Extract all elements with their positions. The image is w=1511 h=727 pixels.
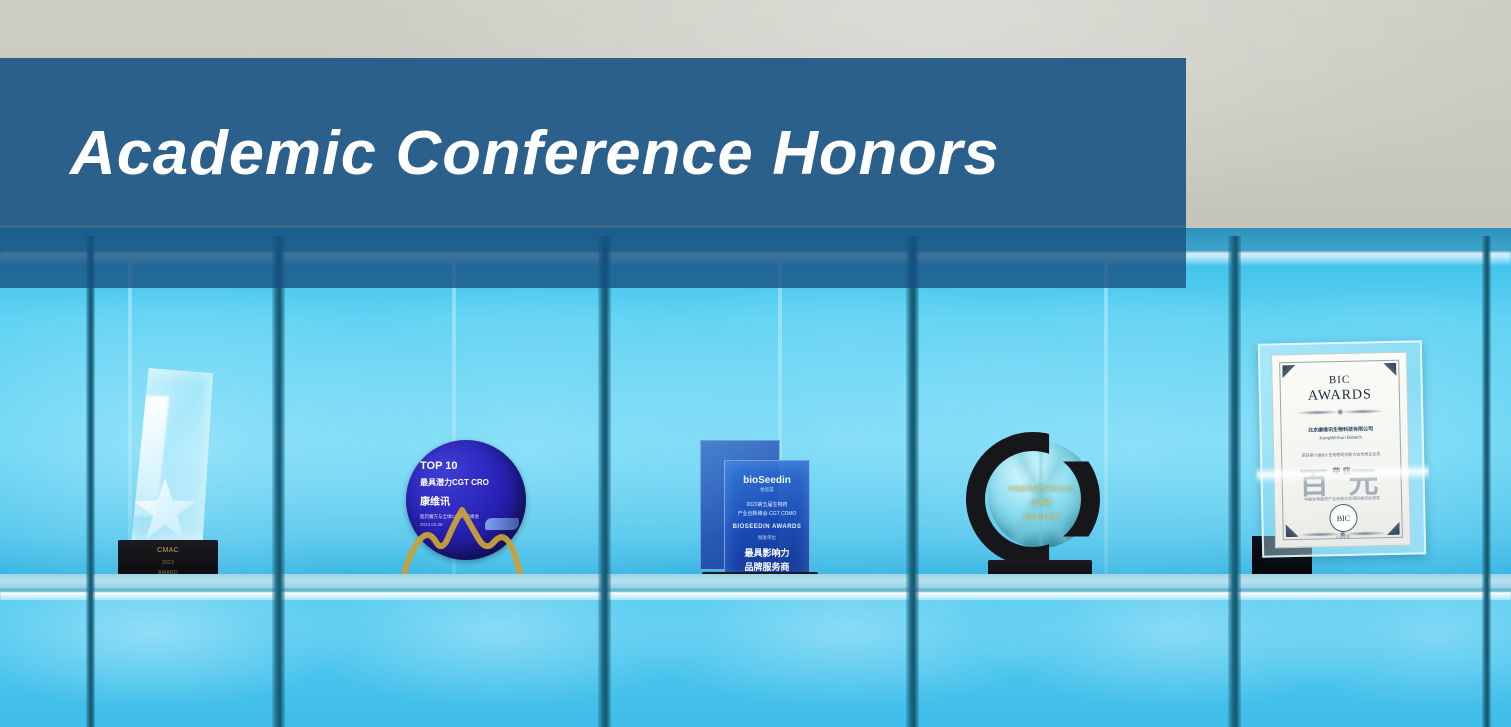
plaque-line1: 2023第五届生物药 — [725, 501, 809, 508]
plaque-line3: BIOSEEDIN AWARDS — [725, 524, 809, 530]
plaque-logo: bioSeedin — [725, 475, 809, 486]
plaque-line5: 最具影响力 — [725, 546, 809, 559]
cabinet-divider — [1482, 236, 1491, 727]
certificate-title-line2: AWARDS — [1273, 387, 1407, 406]
cabinet-divider — [598, 236, 611, 727]
cabinet-divider — [1228, 236, 1241, 727]
plaque-logo-sub: 柏思荟 — [725, 487, 809, 493]
lower-compartment-glow — [0, 600, 1511, 727]
plaque-front-panel: bioSeedin 柏思荟 2023第五届生物药 产业创新峰会·CGT CDMO… — [724, 460, 810, 580]
award-bioseedin-plaque: bioSeedin 柏思荟 2023第五届生物药 产业创新峰会·CGT CDMO… — [700, 440, 820, 588]
trophy-base-line1: CMAC — [118, 547, 218, 554]
plaque-line4: 颁发单位 — [725, 535, 809, 541]
cabinet-divider — [86, 236, 95, 727]
page-title: Academic Conference Honors — [70, 118, 1000, 189]
disc-mountain-stand — [398, 498, 526, 578]
cabinet-divider — [906, 236, 919, 727]
title-banner-fade — [0, 225, 1186, 288]
plaque-line2: 产业创新峰会·CGT CDMO — [725, 510, 809, 517]
award-crystal-star-trophy: CMAC 2023 AWARD — [118, 368, 218, 583]
certificate-paper: BIC AWARDS 北京康维讯生物科技有限公司 KangWeiXun Biot… — [1271, 352, 1411, 549]
trophy-base-line2: 2023 — [118, 560, 218, 566]
disc-line-top10: TOP 10 — [420, 460, 458, 472]
award-bic-certificate: BIC AWARDS 北京康维讯生物科技有限公司 KangWeiXun Biot… — [1248, 340, 1458, 588]
certificate-glass-frame: BIC AWARDS 北京康维讯生物科技有限公司 KangWeiXun Biot… — [1258, 340, 1426, 557]
award-crescent-globe: 中国医药创新与投资大会 优秀奖 创新创业大赛 — [966, 432, 1116, 584]
disc-line-category: 最具潜力CGT CRO — [420, 477, 489, 488]
award-top10-disc: TOP 10 最具潜力CGT CRO 康维讯 医药魔方与全球CGT创新峰会 20… — [398, 440, 538, 585]
cabinet-divider — [272, 236, 285, 727]
screenshot-root: CMAC 2023 AWARD TOP 10 最具潜力CGT CRO 康维讯 医… — [0, 0, 1511, 727]
